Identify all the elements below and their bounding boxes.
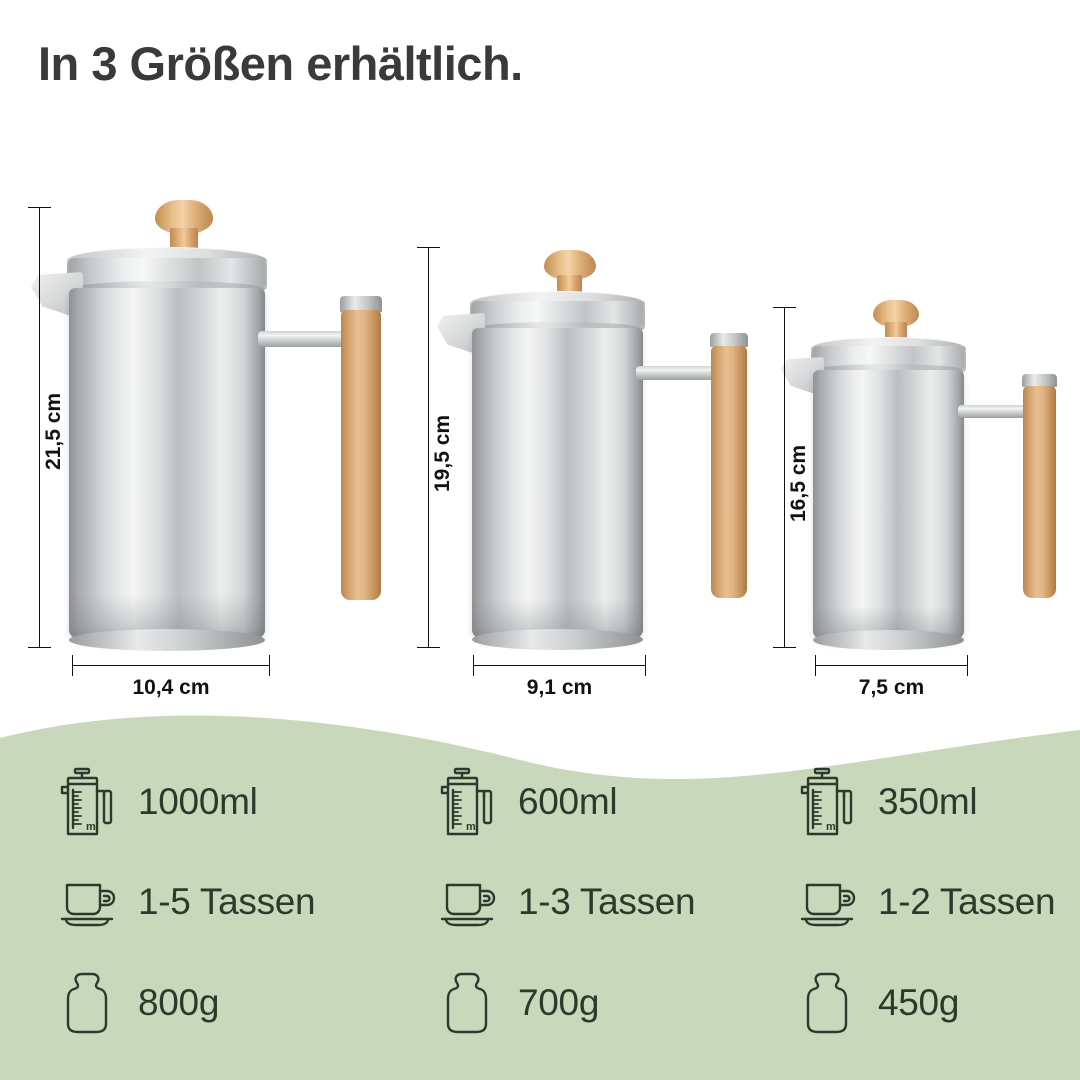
french-press-icon: ml (800, 765, 862, 839)
dimension-line-height-small (784, 307, 785, 648)
capacity-value: 350ml (878, 781, 977, 823)
dimension-line-width-small (815, 665, 968, 666)
spec-row-cups: 1-5 Tassen (60, 875, 315, 929)
weight-icon (800, 970, 862, 1036)
product-comparison-area: 21,5 cm 10,4 cm 19,5 cm 9,1 (0, 0, 1080, 720)
weight-value: 700g (518, 982, 599, 1024)
dimension-line-height-medium (428, 247, 429, 648)
cups-value: 1-5 Tassen (138, 881, 315, 923)
coffee-cup-icon (440, 875, 502, 929)
dimension-label-height-small: 16,5 cm (787, 445, 811, 522)
spec-column-large: ml 1000ml 1-5 Tassen (20, 690, 380, 1080)
spec-column-medium: ml 600ml 1-3 Tassen (400, 690, 760, 1080)
spec-row-cups: 1-3 Tassen (440, 875, 695, 929)
spec-row-weight: 700g (440, 970, 599, 1036)
weight-value: 800g (138, 982, 219, 1024)
spec-row-capacity: ml 350ml (800, 765, 977, 839)
product-large: 21,5 cm 10,4 cm (0, 0, 400, 720)
product-small: 16,5 cm 7,5 cm (760, 0, 1080, 720)
coffee-cup-icon (800, 875, 862, 929)
handle-ferrule (710, 333, 748, 347)
icon-ml-caption: ml (826, 821, 839, 833)
cups-value: 1-3 Tassen (518, 881, 695, 923)
spec-grid: ml 1000ml 1-5 Tassen (0, 690, 1080, 1080)
handle-grip (711, 346, 747, 598)
weight-value: 450g (878, 982, 959, 1024)
handle-grip (1023, 386, 1056, 598)
press-base (69, 629, 265, 651)
press-body (69, 288, 265, 640)
capacity-value: 1000ml (138, 781, 258, 823)
dimension-line-height-large (39, 207, 40, 648)
press-body (813, 370, 964, 641)
dimension-line-width-large (72, 665, 270, 666)
product-medium: 19,5 cm 9,1 cm (410, 0, 780, 720)
spec-row-weight: 800g (60, 970, 219, 1036)
spec-row-capacity: ml 1000ml (60, 765, 258, 839)
spec-row-capacity: ml 600ml (440, 765, 617, 839)
weight-icon (440, 970, 502, 1036)
icon-ml-caption: ml (466, 821, 479, 833)
press-body (472, 328, 643, 640)
weight-icon (60, 970, 122, 1036)
spec-row-cups: 1-2 Tassen (800, 875, 1055, 929)
press-base (472, 629, 643, 650)
dimension-line-width-medium (473, 665, 646, 666)
dimension-label-height-large: 21,5 cm (42, 393, 66, 470)
spec-column-small: ml 350ml 1-2 Tassen (760, 690, 1080, 1080)
coffee-cup-icon (60, 875, 122, 929)
icon-ml-caption: ml (86, 821, 99, 833)
french-press-icon: ml (440, 765, 502, 839)
product-infographic: In 3 Größen erhältlich. (0, 0, 1080, 1080)
press-base (813, 630, 964, 650)
cups-value: 1-2 Tassen (878, 881, 1055, 923)
french-press-icon: ml (60, 765, 122, 839)
handle-grip (341, 310, 381, 600)
capacity-value: 600ml (518, 781, 617, 823)
dimension-label-height-medium: 19,5 cm (431, 415, 455, 492)
spec-row-weight: 450g (800, 970, 959, 1036)
